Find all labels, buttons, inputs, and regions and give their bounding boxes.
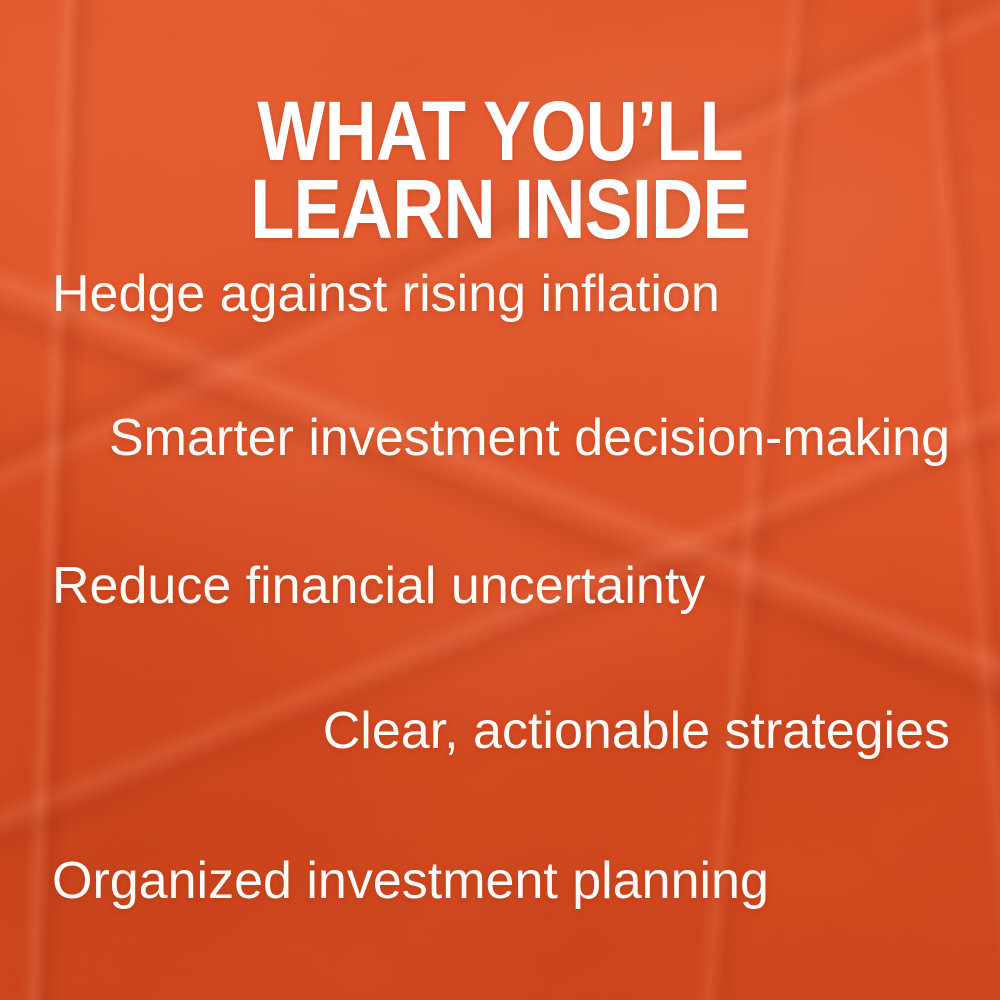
page-title: WHAT YOU’LL LEARN INSIDE bbox=[70, 92, 930, 248]
promo-poster: WHAT YOU’LL LEARN INSIDE Hedge against r… bbox=[0, 0, 1000, 1000]
headline-line-2: LEARN INSIDE bbox=[70, 170, 930, 248]
headline-line-1: WHAT YOU’LL bbox=[70, 92, 930, 170]
poster-content: WHAT YOU’LL LEARN INSIDE Hedge against r… bbox=[0, 0, 1000, 1000]
benefit-item: Clear, actionable strategies bbox=[323, 705, 950, 757]
benefit-item: Hedge against rising inflation bbox=[52, 268, 720, 320]
benefit-item: Smarter investment decision-making bbox=[109, 412, 950, 464]
benefit-item: Organized investment planning bbox=[52, 855, 769, 907]
benefit-item: Reduce financial uncertainty bbox=[52, 560, 705, 612]
